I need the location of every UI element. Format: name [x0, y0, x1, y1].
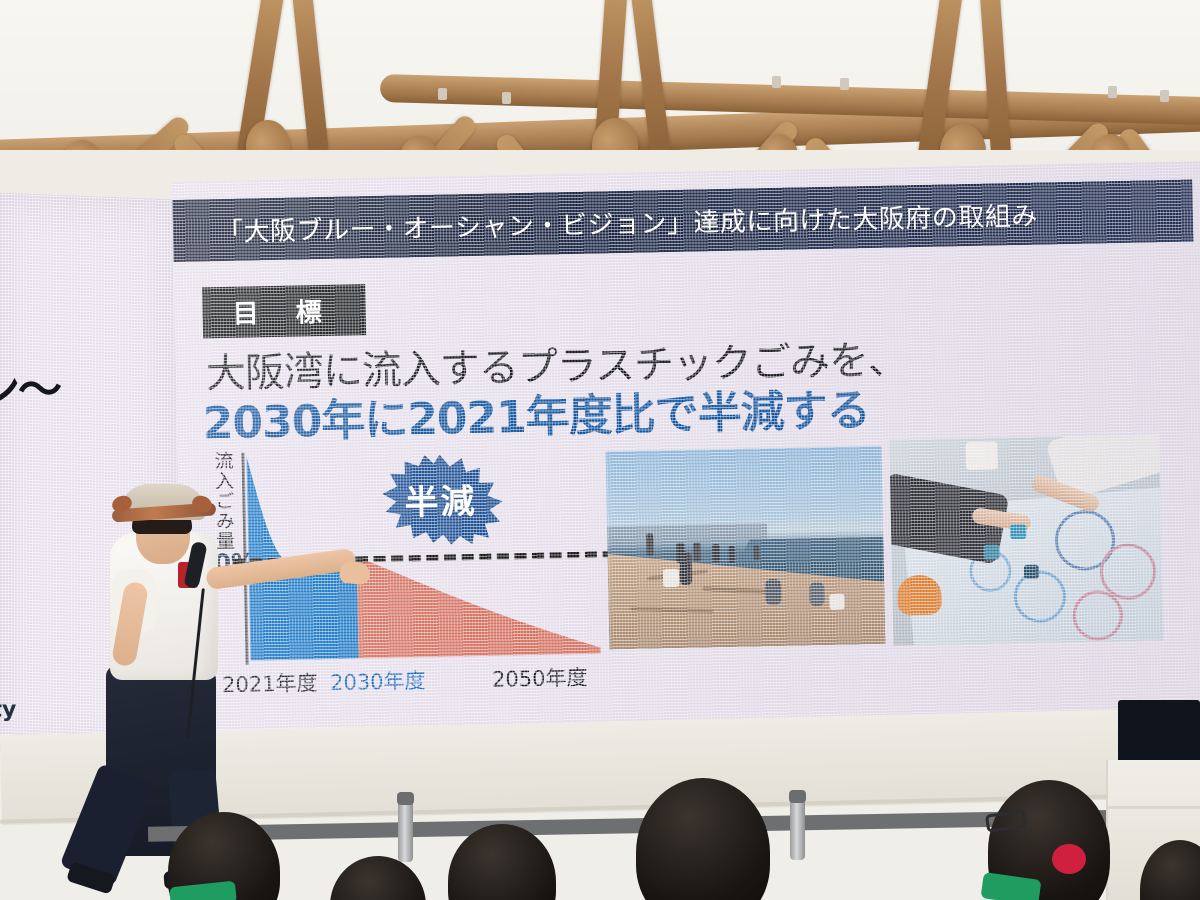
audience-head	[330, 856, 426, 900]
fixing-clip	[840, 78, 849, 90]
volunteer-crouching	[765, 579, 782, 605]
fixing-clip	[438, 88, 447, 100]
board-circle	[1011, 568, 1067, 624]
volunteer-crouching	[810, 582, 825, 606]
volunteer	[712, 544, 719, 562]
volunteer	[754, 545, 760, 560]
game-piece	[1010, 523, 1026, 538]
orange-object	[897, 575, 942, 616]
game-piece	[1024, 564, 1039, 578]
section-badge-goal: 目 標	[202, 284, 366, 338]
fixing-clip	[502, 92, 511, 104]
chart-x-tick-2050: 2050年度	[492, 662, 588, 694]
starburst-label: 半減	[370, 451, 512, 546]
screenshot-root: ン～ ity 「大阪ブルー・オーシャン・ビジョン」達成に向けた大阪府の取組み 目…	[0, 0, 1200, 900]
volunteer-bending	[679, 553, 692, 585]
stanchion-top	[397, 792, 414, 805]
volunteer	[729, 546, 735, 563]
stanchion-post	[790, 798, 805, 860]
hair-scrunchie	[1052, 844, 1086, 874]
chart-series-salmon	[357, 552, 601, 659]
stanchion-top	[789, 790, 806, 803]
fixing-clip	[1108, 86, 1117, 98]
paint-cup	[965, 442, 998, 471]
photo-cleanup-activity: 清掃活動	[605, 446, 885, 649]
stage-monitor	[1118, 700, 1200, 766]
photo-cleanup-image	[605, 446, 885, 649]
photo-education-image	[889, 434, 1163, 645]
slide-title: 「大阪ブルー・オーシャン・ビジョン」達成に向けた大阪府の取組み	[217, 195, 1039, 248]
trash-bag	[663, 569, 679, 587]
stanchion-post	[398, 800, 413, 862]
distant-buildings	[607, 523, 767, 544]
lectern-seam	[1108, 806, 1200, 809]
halve-starburst-annotation: 半減	[370, 451, 512, 546]
trash-bag	[829, 593, 844, 609]
fixing-clip	[1160, 90, 1169, 102]
goal-text-line2: 2030年に2021年度比で半減する	[202, 374, 870, 451]
slide-title-band: 「大阪ブルー・オーシャン・ビジョン」達成に向けた大阪府の取組み	[172, 180, 1193, 262]
photo-environmental-education: 環境教育	[889, 434, 1163, 645]
fixing-clip	[772, 76, 781, 88]
volunteer	[646, 534, 653, 556]
left-screen-text-bottom: ity	[0, 698, 16, 723]
game-piece	[983, 545, 999, 560]
chart-x-tick-2030: 2030年度	[330, 665, 426, 697]
left-screen-text-top: ン～	[0, 353, 60, 417]
volunteer	[693, 543, 700, 562]
